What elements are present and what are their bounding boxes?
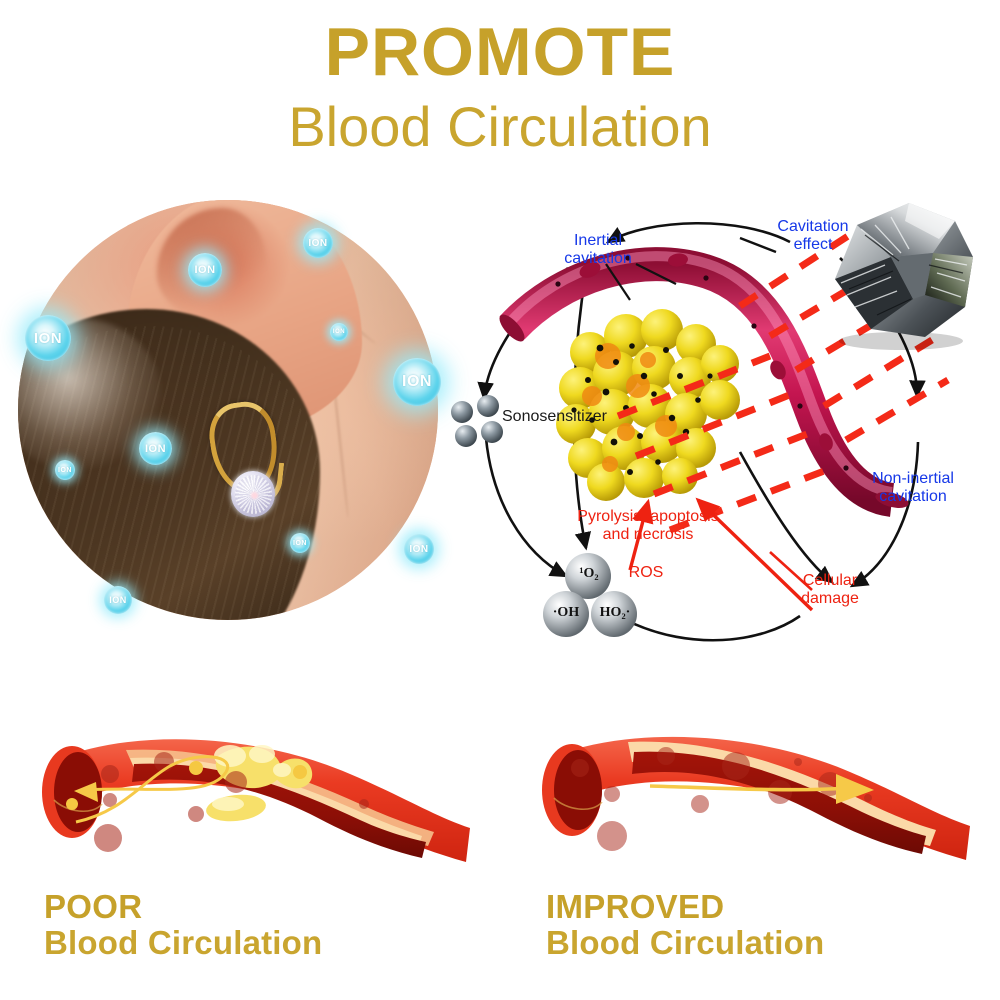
- product-infographic: PROMOTE Blood Circulation IONIONIONIONIO…: [0, 0, 1000, 1000]
- gold-hoop-earring: [203, 402, 304, 536]
- gem-sparkle: [251, 492, 258, 499]
- tumor-cell-cluster: [556, 309, 740, 501]
- clear-blood-vessel: [530, 712, 980, 882]
- ion-bubble: ION: [139, 432, 172, 465]
- ion-bubble: ION: [290, 533, 310, 553]
- label-cellular-damage: Cellular damage: [778, 572, 882, 608]
- caption-poor: POOR Blood Circulation: [44, 890, 322, 962]
- ear-with-ion-earring-photo: [18, 200, 438, 620]
- molecule-hydroxyl-radical: ·OH: [546, 605, 586, 621]
- label-ros: ROS: [616, 564, 676, 582]
- ion-bubble: ION: [303, 228, 333, 258]
- caption-poor-subheading: Blood Circulation: [44, 925, 322, 962]
- caption-improved: IMPROVED Blood Circulation: [546, 890, 824, 962]
- ion-bubble: ION: [55, 460, 75, 480]
- molecule-hydroperoxyl: HO₂·: [593, 605, 637, 621]
- page-title: PROMOTE: [0, 18, 1000, 86]
- ion-bubble: ION: [330, 323, 348, 341]
- sonosensitizer-particles: [451, 395, 503, 447]
- page-subtitle: Blood Circulation: [0, 96, 1000, 158]
- caption-improved-subheading: Blood Circulation: [546, 925, 824, 962]
- label-sonosensitizer: Sonosensitizer: [502, 408, 642, 426]
- earring-crystal-gem: [231, 471, 275, 517]
- blocked-blood-vessel: [30, 712, 480, 882]
- ion-bubble: ION: [393, 358, 441, 406]
- label-inertial-cavitation: Inertial cavitation: [538, 232, 658, 268]
- molecule-singlet-oxygen: ¹O₂: [569, 566, 609, 582]
- label-non-inertial-cavitation: Non-inertial cavitation: [844, 470, 982, 506]
- ion-bubble: ION: [404, 534, 434, 564]
- label-pyrolysis-apoptosis-necrosis: Pyrolysis, apoptosis and necrosis: [548, 508, 748, 544]
- caption-poor-heading: POOR: [44, 890, 322, 925]
- germanium-crystal: [805, 195, 985, 355]
- ion-bubble: ION: [188, 253, 222, 287]
- ion-bubble: ION: [104, 586, 132, 614]
- caption-improved-heading: IMPROVED: [546, 890, 824, 925]
- ion-bubble: ION: [25, 315, 71, 361]
